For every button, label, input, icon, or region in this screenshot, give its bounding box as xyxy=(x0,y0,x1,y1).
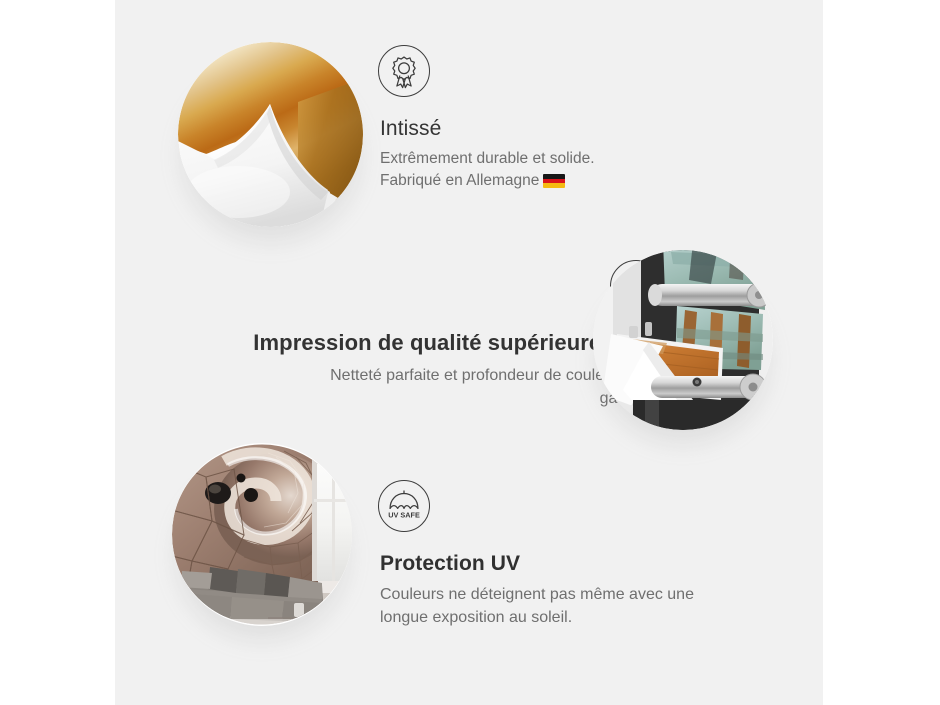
feature-body: Netteté parfaite et profondeur de couleu… xyxy=(201,364,661,410)
product-info-graphic: Intissé Extrêmement durable et solide. F… xyxy=(0,0,940,705)
feature-body: Extrêmement durable et solide. Fabriqué … xyxy=(380,148,710,192)
award-rosette-icon xyxy=(378,45,430,97)
peeling-wallpaper-photo xyxy=(178,42,363,227)
uv-safe-umbrella-icon: UV SAFE xyxy=(378,480,430,532)
feature-title: Protection UV xyxy=(380,552,520,576)
feature-body-line2: Fabriqué en Allemagne xyxy=(380,172,539,189)
feature-title: Impression de qualité supérieure! xyxy=(201,330,661,356)
german-flag-icon xyxy=(543,174,565,188)
feature-body-line2: longue exposition au soleil. xyxy=(380,609,572,626)
feature-body: Couleurs ne déteignent pas même avec une… xyxy=(380,583,720,629)
printing-press-photo xyxy=(593,250,773,430)
living-room-mural-photo xyxy=(172,443,352,626)
uv-safe-label: UV SAFE xyxy=(388,510,420,519)
feature-body-line1: Couleurs ne déteignent pas même avec une xyxy=(380,586,694,603)
feature-title: Intissé xyxy=(380,117,441,141)
info-panel: Intissé Extrêmement durable et solide. F… xyxy=(115,0,823,705)
feature-body-line1: Extrêmement durable et solide. xyxy=(380,150,595,167)
